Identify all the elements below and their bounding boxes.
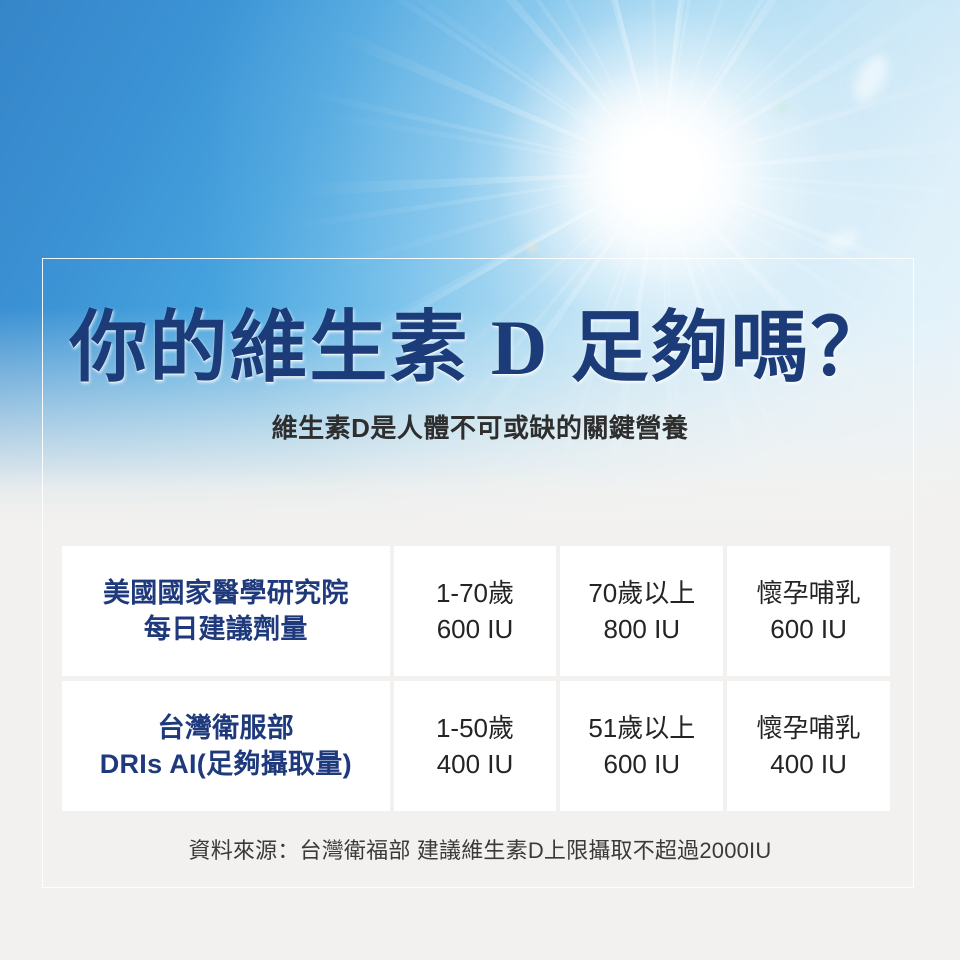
source-note: 資料來源：台灣衛福部 建議維生素D上限攝取不超過2000IU: [0, 833, 960, 865]
table-row-label: 美國國家醫學研究院 每日建議劑量: [62, 546, 390, 676]
age-group: 懷孕哺乳: [757, 710, 861, 746]
table-row: 美國國家醫學研究院 每日建議劑量 1-70歲 600 IU 70歲以上 800 …: [62, 546, 890, 676]
table-row-label-line1: 美國國家醫學研究院: [103, 575, 349, 611]
dose-value: 600 IU: [770, 611, 847, 647]
dose-value: 400 IU: [770, 746, 847, 782]
dose-value: 600 IU: [437, 611, 514, 647]
page-title: 你的維生素 D 足夠嗎？: [0, 305, 960, 391]
table-cell: 1-70歲 600 IU: [394, 546, 557, 676]
table-cell: 懷孕哺乳 600 IU: [727, 546, 890, 676]
table-cell: 懷孕哺乳 400 IU: [727, 681, 890, 811]
age-group: 1-50歲: [436, 710, 514, 746]
table-row: 台灣衛服部 DRIs AI(足夠攝取量) 1-50歲 400 IU 51歲以上 …: [62, 681, 890, 811]
dose-value: 400 IU: [437, 746, 514, 782]
dose-value: 800 IU: [603, 611, 680, 647]
age-group: 1-70歲: [436, 575, 514, 611]
dose-value: 600 IU: [603, 746, 680, 782]
recommended-dosage-table: 美國國家醫學研究院 每日建議劑量 1-70歲 600 IU 70歲以上 800 …: [62, 546, 890, 816]
table-cell: 1-50歲 400 IU: [394, 681, 557, 811]
poster-content: 你的維生素 D 足夠嗎？ 維生素D是人體不可或缺的關鍵營養 美國國家醫學研究院 …: [0, 0, 960, 960]
table-cell: 70歲以上 800 IU: [560, 546, 723, 676]
table-row-label-line2: DRIs AI(足夠攝取量): [100, 746, 352, 782]
table-row-label: 台灣衛服部 DRIs AI(足夠攝取量): [62, 681, 390, 811]
age-group: 懷孕哺乳: [757, 575, 861, 611]
table-row-label-line1: 台灣衛服部: [158, 710, 295, 746]
table-cell: 51歲以上 600 IU: [560, 681, 723, 811]
page-subtitle: 維生素D是人體不可或缺的關鍵營養: [0, 408, 960, 445]
age-group: 51歲以上: [588, 710, 695, 746]
table-row-label-line2: 每日建議劑量: [144, 611, 308, 647]
age-group: 70歲以上: [588, 575, 695, 611]
